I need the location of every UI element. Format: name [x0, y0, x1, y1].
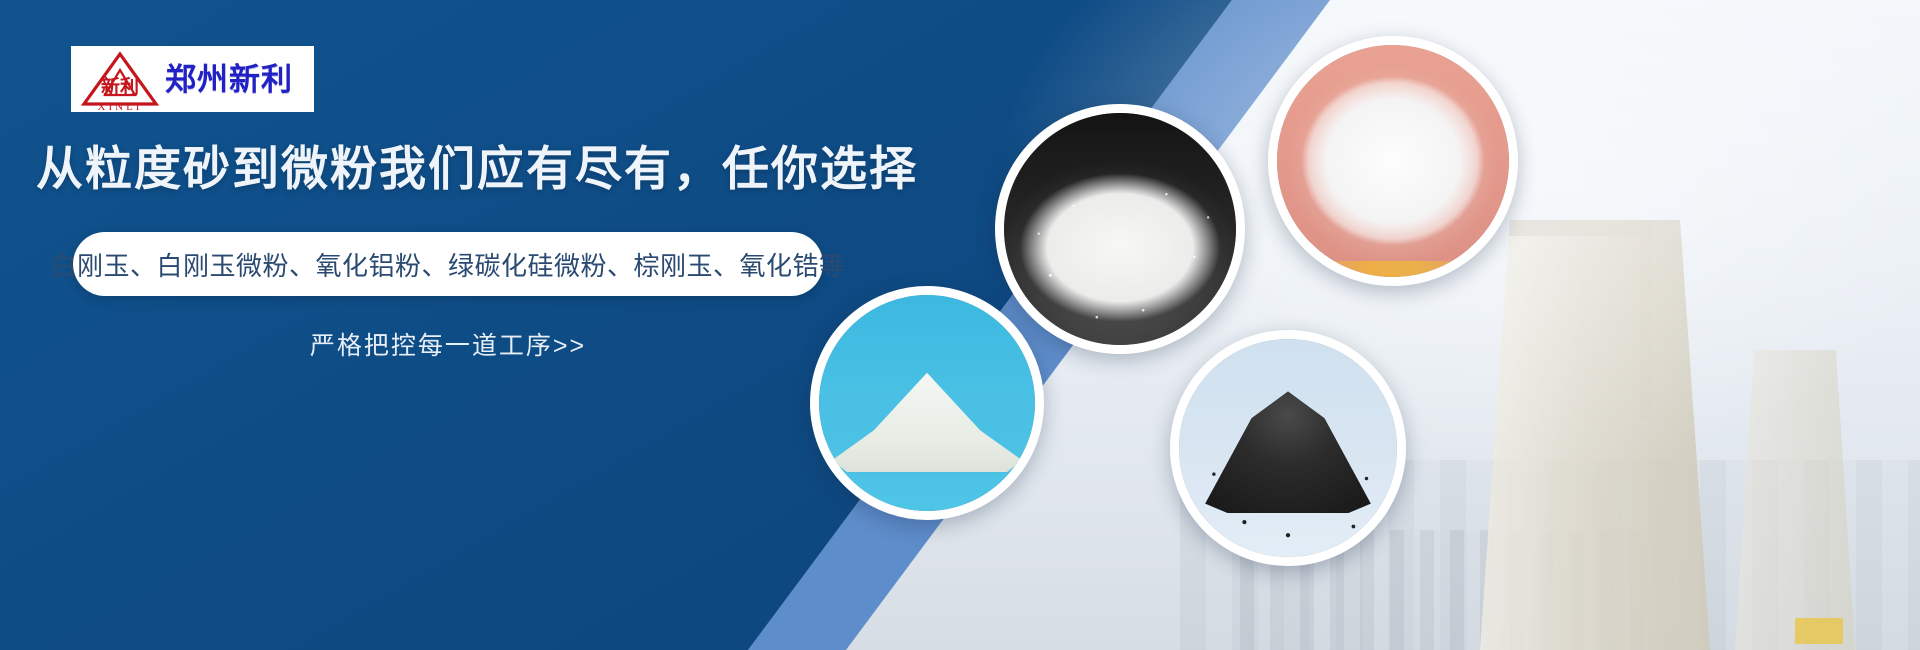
company-name-label: 郑州新利 [165, 64, 293, 95]
product-photo-white-alumina-powder[interactable] [1268, 36, 1518, 286]
product-photo-green-silicon-carbide-grit[interactable] [1170, 330, 1406, 566]
product-list-pill[interactable]: 白刚玉、白刚玉微粉、氧化铝粉、绿碳化硅微粉、棕刚玉、氧化锆等 [73, 232, 823, 296]
product-list-text: 白刚玉、白刚玉微粉、氧化铝粉、绿碳化硅微粉、棕刚玉、氧化锆等 [51, 246, 846, 283]
subtitle-cta[interactable]: 严格把控每一道工序>> [73, 326, 823, 362]
cooling-tower-shape-secondary [1735, 350, 1855, 650]
svg-text:新利: 新利 [101, 75, 139, 98]
yellow-equipment-shape [1795, 618, 1843, 644]
powder-mound-shape [832, 373, 1022, 472]
promo-banner: 新利 XINLI 郑州新利 从粒度砂到微粉我们应有尽有，任你选择 白刚玉、白刚玉… [0, 0, 1920, 650]
product-photo-inner [1277, 45, 1509, 277]
xinli-triangle-icon: 新利 XINLI [81, 50, 159, 108]
headline: 从粒度砂到微粉我们应有尽有，任你选择 [36, 140, 1016, 199]
product-photo-inner [1179, 339, 1397, 557]
grit-mound-shape [1205, 391, 1371, 513]
product-photo-white-powder-mound[interactable] [810, 286, 1044, 520]
xinli-pinyin-label: XINLI [81, 101, 159, 113]
product-photo-inner [1004, 113, 1236, 345]
company-logo[interactable]: 新利 XINLI 郑州新利 [71, 46, 314, 112]
product-photo-inner [819, 295, 1035, 511]
cooling-tower-shape [1480, 220, 1710, 650]
